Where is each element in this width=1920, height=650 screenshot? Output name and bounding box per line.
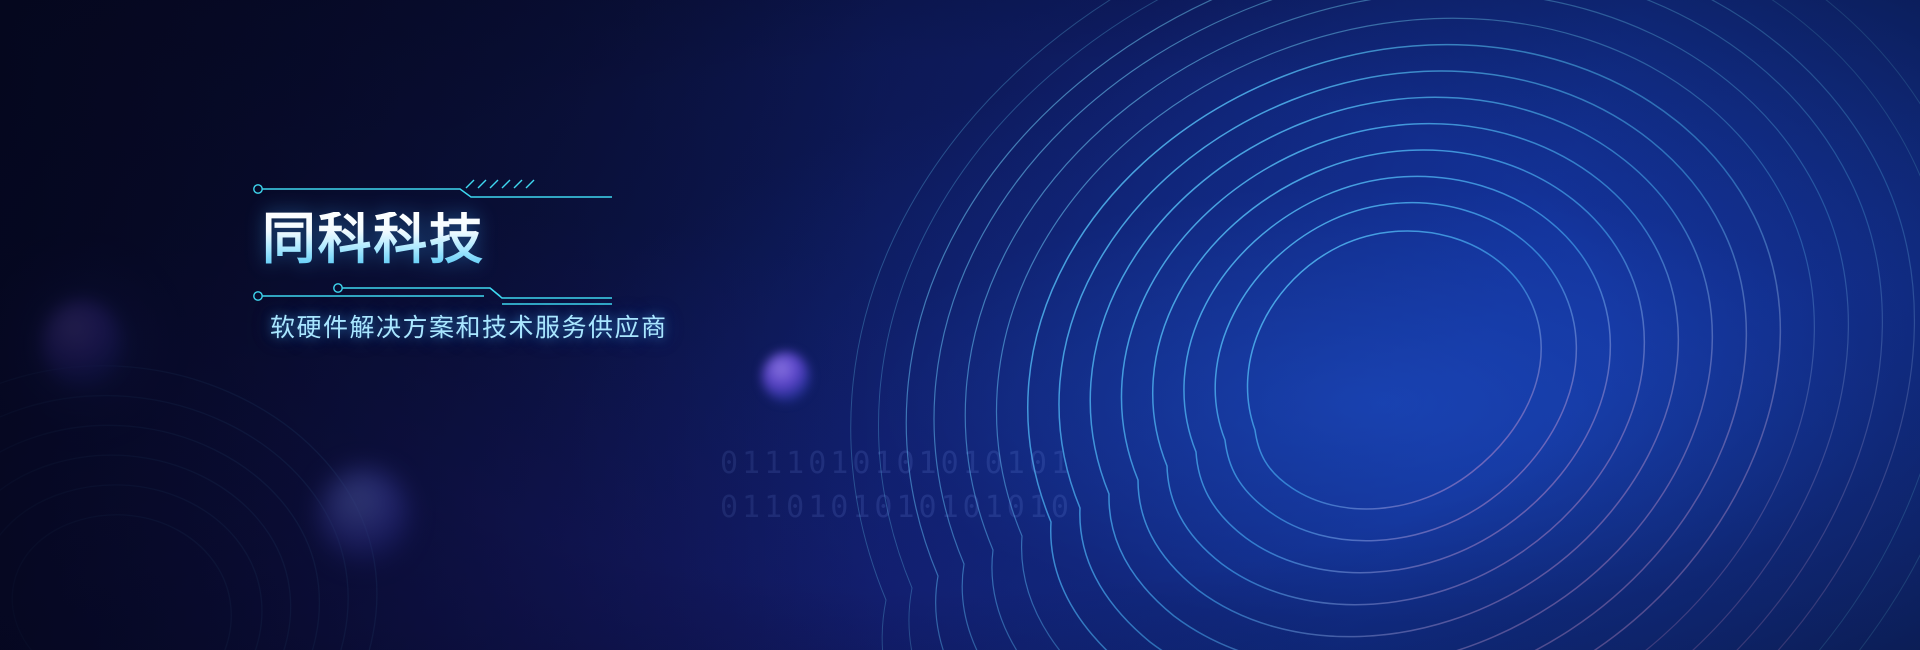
contour-rings-left [0,360,420,650]
rule-endpoint-circle-left-lower [254,292,262,300]
orb-blue-bottom-left [318,468,410,564]
orb-purple-center [762,352,810,402]
rule-endpoint-circle-left [254,185,262,193]
rule-endpoint-circle-mid [334,284,342,292]
orb-glow-left [8,262,158,422]
brand-title: 同科科技 [262,212,485,268]
brand-subtitle: 软硬件解决方案和技术服务供应商 [270,308,668,344]
binary-line-1: 0111010101010101 [720,446,1073,481]
brand-title-wrap: 同科科技 [252,216,952,278]
hero-banner: 0111010101010101 0110101010101010 [0,0,1920,650]
binary-code-text: 0111010101010101 0110101010101010 [720,442,1073,530]
circuit-rule-top [252,176,612,206]
binary-line-2: 0110101010101010 [720,490,1073,525]
hero-content: 同科科技 软硬件解决方案和技术服务供应商 [252,176,952,321]
orb-purple-left [42,300,122,388]
contour-rings-right [800,0,1920,650]
noise-texture-overlay [0,0,300,150]
